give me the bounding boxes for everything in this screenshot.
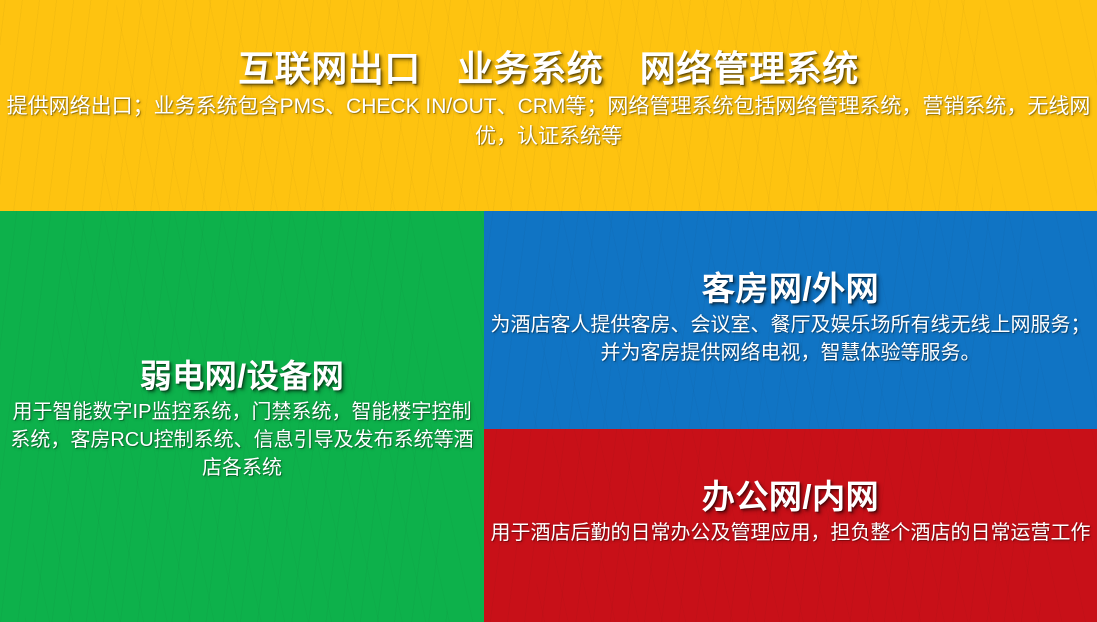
slide-canvas: 互联网出口 业务系统 网络管理系统 提供网络出口；业务系统包含PMS、CHECK… [0,0,1097,622]
zone-low-voltage-device-network-content: 弱电网/设备网 用于智能数字IP监控系统，门禁系统，智能楼宇控制系统，客房RCU… [0,211,484,622]
zone-office-internal-network-title: 办公网/内网 [490,476,1091,517]
zone-low-voltage-device-network-description: 用于智能数字IP监控系统，门禁系统，智能楼宇控制系统，客房RCU控制系统、信息引… [4,398,480,482]
zone-low-voltage-device-network: 弱电网/设备网 用于智能数字IP监控系统，门禁系统，智能楼宇控制系统，客房RCU… [0,211,484,622]
zone-guestroom-external-network: 客房网/外网 为酒店客人提供客房、会议室、餐厅及娱乐场所有线无线上网服务；并为客… [484,211,1097,429]
zone-internet-egress-description: 提供网络出口；业务系统包含PMS、CHECK IN/OUT、CRM等；网络管理系… [0,92,1097,152]
zone-low-voltage-device-network-title: 弱电网/设备网 [4,356,480,396]
zone-guestroom-external-network-content: 客房网/外网 为酒店客人提供客房、会议室、餐厅及娱乐场所有线无线上网服务；并为客… [484,211,1097,429]
zone-internet-egress-title: 互联网出口 业务系统 网络管理系统 [0,48,1097,90]
zone-guestroom-external-network-title: 客房网/外网 [490,268,1091,309]
zone-office-internal-network-description: 用于酒店后勤的日常办公及管理应用，担负整个酒店的日常运营工作 [490,519,1091,547]
zone-internet-egress: 互联网出口 业务系统 网络管理系统 提供网络出口；业务系统包含PMS、CHECK… [0,0,1097,211]
zone-internet-egress-content: 互联网出口 业务系统 网络管理系统 提供网络出口；业务系统包含PMS、CHECK… [0,0,1097,211]
zone-guestroom-external-network-description: 为酒店客人提供客房、会议室、餐厅及娱乐场所有线无线上网服务；并为客房提供网络电视… [490,311,1091,367]
zone-office-internal-network-content: 办公网/内网 用于酒店后勤的日常办公及管理应用，担负整个酒店的日常运营工作 [484,429,1097,622]
zone-office-internal-network: 办公网/内网 用于酒店后勤的日常办公及管理应用，担负整个酒店的日常运营工作 [484,429,1097,622]
